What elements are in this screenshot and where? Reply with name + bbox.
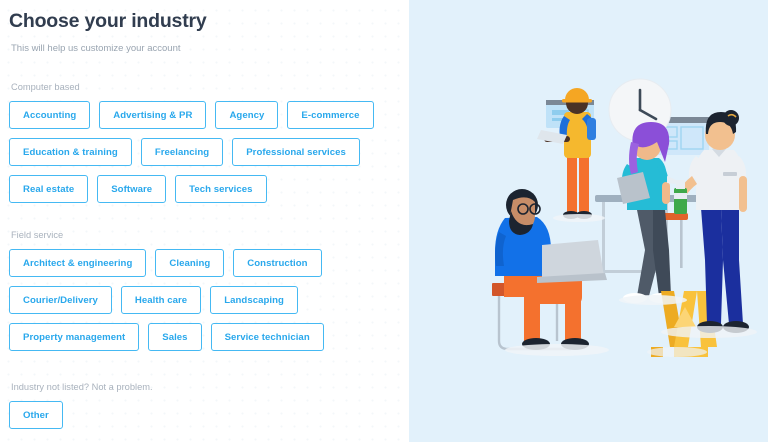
industry-chip-property-management[interactable]: Property management [9,323,139,351]
industry-chip-other[interactable]: Other [9,401,63,429]
chip-row: Real estate Software Tech services [9,175,409,203]
chip-row: Architect & engineering Cleaning Constru… [9,249,409,277]
industry-chip-real-estate[interactable]: Real estate [9,175,88,203]
chip-group-field-service: Architect & engineering Cleaning Constru… [9,249,409,351]
chip-row: Education & training Freelancing Profess… [9,138,409,166]
industry-chip-sales[interactable]: Sales [148,323,201,351]
industry-chip-construction[interactable]: Construction [233,249,321,277]
industry-chip-freelancing[interactable]: Freelancing [141,138,223,166]
industry-chip-agency[interactable]: Agency [215,101,278,129]
illustration-panel [409,0,768,442]
section-label-field-service: Field service [11,230,409,241]
page-title: Choose your industry [9,10,409,32]
industry-chip-cleaning[interactable]: Cleaning [155,249,224,277]
industry-chip-landscaping[interactable]: Landscaping [210,286,298,314]
industry-chip-e-commerce[interactable]: E-commerce [287,101,373,129]
team-at-work-illustration [409,0,768,442]
section-field-service: Field service Architect & engineering Cl… [9,230,409,351]
chip-row: Accounting Advertising & PR Agency E-com… [9,101,409,129]
other-note: Industry not listed? Not a problem. [11,382,409,393]
section-other: Industry not listed? Not a problem. Othe… [9,382,409,429]
section-label-computer-based: Computer based [11,82,409,93]
onboarding-industry-page: Choose your industry This will help us c… [0,0,768,442]
chip-row: Other [9,401,409,429]
chip-row: Courier/Delivery Health care Landscaping [9,286,409,314]
chip-row: Property management Sales Service techni… [9,323,409,351]
industry-selection-panel: Choose your industry This will help us c… [0,0,409,442]
industry-chip-education-training[interactable]: Education & training [9,138,132,166]
industry-chip-software[interactable]: Software [97,175,166,203]
industry-chip-courier-delivery[interactable]: Courier/Delivery [9,286,112,314]
industry-chip-advertising-pr[interactable]: Advertising & PR [99,101,206,129]
chip-group-computer-based: Accounting Advertising & PR Agency E-com… [9,101,409,203]
industry-chip-service-technician[interactable]: Service technician [211,323,324,351]
industry-chip-tech-services[interactable]: Tech services [175,175,266,203]
industry-chip-accounting[interactable]: Accounting [9,101,90,129]
industry-chip-architect-engineering[interactable]: Architect & engineering [9,249,146,277]
page-subtitle: This will help us customize your account [11,43,409,55]
industry-chip-health-care[interactable]: Health care [121,286,201,314]
section-computer-based: Computer based Accounting Advertising & … [9,82,409,203]
industry-chip-professional-services[interactable]: Professional services [232,138,360,166]
